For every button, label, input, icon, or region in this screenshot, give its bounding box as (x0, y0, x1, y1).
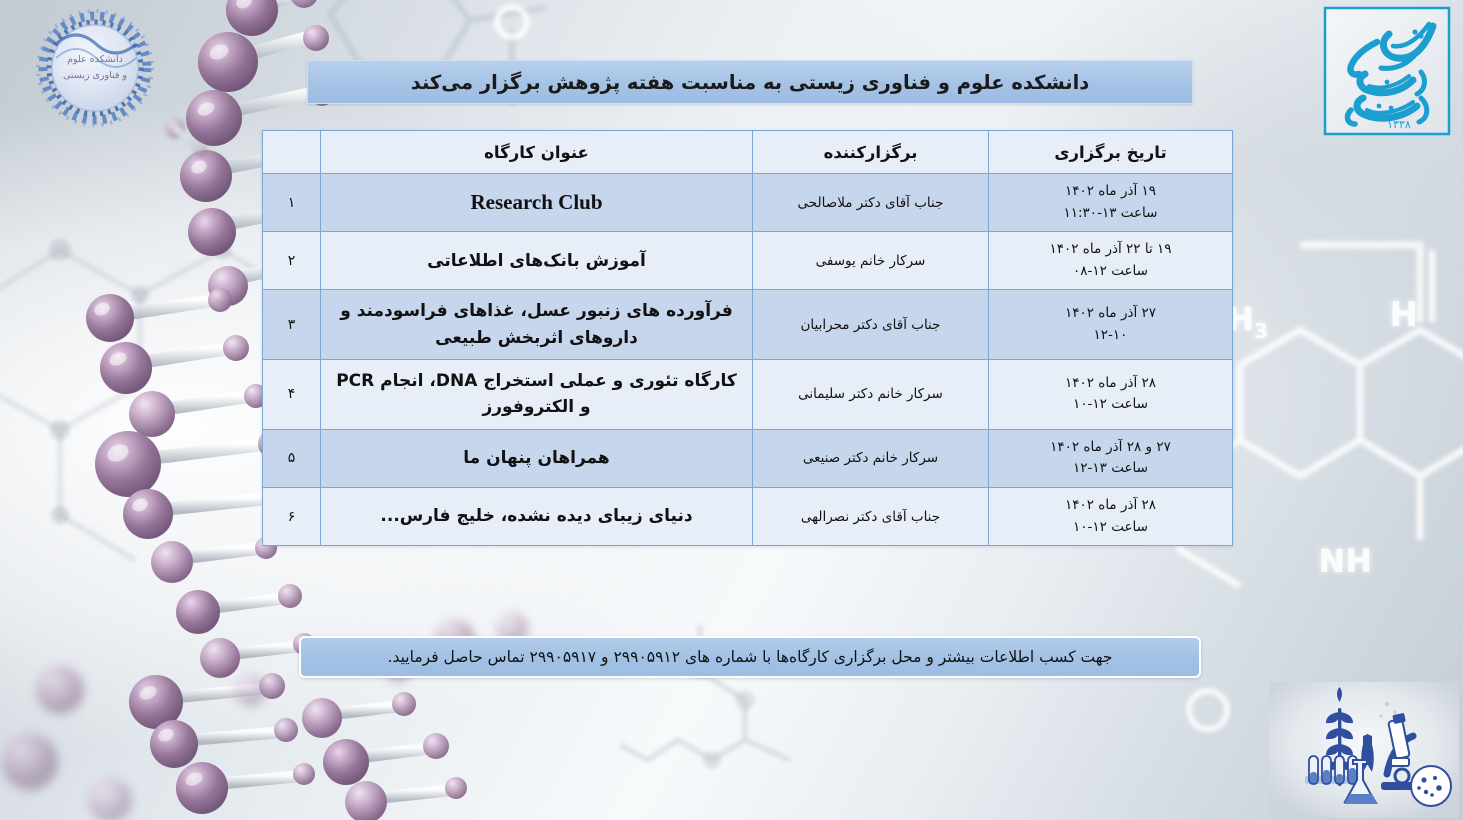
faculty-seal-line2: و فناوری زیستی (14, 68, 176, 84)
cell-date: ۱۹ تا ۲۲ آذر ماه ۱۴۰۲ساعت ۱۲-۰۸ (989, 232, 1233, 290)
cell-date-line1: ۲۷ و ۲۸ آذر ماه ۱۴۰۲ (995, 437, 1226, 459)
cell-host: سرکار خانم دکتر صنیعی (753, 429, 989, 487)
cell-row-number: ۳ (263, 290, 321, 360)
cell-date-line1: ۱۹ آذر ماه ۱۴۰۲ (995, 181, 1226, 203)
poster-slide: CH3 H NH (0, 0, 1463, 820)
workshop-schedule-table: تاریخ برگزاری برگزارکننده عنوان کارگاه ۱… (262, 130, 1233, 546)
table-header-row: تاریخ برگزاری برگزارکننده عنوان کارگاه (263, 131, 1233, 174)
faculty-seal-line1: دانشکده علوم (14, 52, 176, 68)
cell-date-line2: ساعت ۱۳-۱۲ (995, 458, 1226, 480)
cell-workshop-title: فرآورده های زنبور عسل، غذاهای فراسودمند … (321, 290, 753, 360)
contact-info-text: جهت کسب اطلاعات بیشتر و محل برگزاری کارگ… (388, 648, 1113, 666)
cell-workshop-title: همراهان پنهان ما (321, 429, 753, 487)
cell-host: جناب آقای دکتر محرابیان (753, 290, 989, 360)
column-header-index (263, 131, 321, 174)
cell-workshop-title: دنیای زیبای دیده نشده، خلیج فارس... (321, 487, 753, 545)
cell-row-number: ۵ (263, 429, 321, 487)
cell-date-line2: ساعت ۱۲-۱۰ (995, 394, 1226, 416)
cell-workshop-title: کارگاه تئوری و عملی استخراج DNA، انجام P… (321, 360, 753, 430)
shahid-beheshti-university-logo: ۱۳۳۸ (1317, 2, 1457, 144)
table-row: ۲۷ و ۲۸ آذر ماه ۱۴۰۲ساعت ۱۳-۱۲سرکار خانم… (263, 429, 1233, 487)
cell-host: سرکار خانم یوسفی (753, 232, 989, 290)
cell-date-line2: ساعت ۱۳-۱۱:۳۰ (995, 203, 1226, 225)
title-banner: دانشکده علوم و فناوری زیستی به مناسبت هف… (307, 60, 1193, 104)
cell-date-line2: ساعت ۱۲-۱۰ (995, 517, 1226, 539)
cell-date: ۲۷ و ۲۸ آذر ماه ۱۴۰۲ساعت ۱۳-۱۲ (989, 429, 1233, 487)
column-header-date: تاریخ برگزاری (989, 131, 1233, 174)
cell-row-number: ۱ (263, 174, 321, 232)
cell-workshop-title: آموزش بانک‌های اطلاعاتی (321, 232, 753, 290)
table-body: ۱۹ آذر ماه ۱۴۰۲ساعت ۱۳-۱۱:۳۰جناب آقای دک… (263, 174, 1233, 546)
biotech-emblem-logo (1269, 682, 1459, 818)
cell-date-line2: ۱۲-۱۰ (995, 325, 1226, 347)
cell-host: سرکار خانم دکتر سلیمانی (753, 360, 989, 430)
cell-date-line1: ۲۸ آذر ماه ۱۴۰۲ (995, 373, 1226, 395)
cell-row-number: ۲ (263, 232, 321, 290)
cell-row-number: ۴ (263, 360, 321, 430)
cell-date: ۲۸ آذر ماه ۱۴۰۲ساعت ۱۲-۱۰ (989, 360, 1233, 430)
cell-date-line2: ساعت ۱۲-۰۸ (995, 261, 1226, 283)
faculty-seal-logo: دانشکده علوم و فناوری زیستی (14, 8, 176, 132)
table-row: ۲۸ آذر ماه ۱۴۰۲ساعت ۱۲-۱۰سرکار خانم دکتر… (263, 360, 1233, 430)
cell-date-line1: ۲۸ آذر ماه ۱۴۰۲ (995, 495, 1226, 517)
table-row: ۲۸ آذر ماه ۱۴۰۲ساعت ۱۲-۱۰جناب آقای دکتر … (263, 487, 1233, 545)
table-row: ۱۹ آذر ماه ۱۴۰۲ساعت ۱۳-۱۱:۳۰جناب آقای دک… (263, 174, 1233, 232)
faculty-seal-text: دانشکده علوم و فناوری زیستی (14, 52, 176, 83)
table-row: ۲۷ آذر ماه ۱۴۰۲۱۲-۱۰جناب آقای دکتر محراب… (263, 290, 1233, 360)
university-logo-year: ۱۳۳۸ (1387, 118, 1411, 131)
cell-date: ۲۷ آذر ماه ۱۴۰۲۱۲-۱۰ (989, 290, 1233, 360)
cell-date-line1: ۱۹ تا ۲۲ آذر ماه ۱۴۰۲ (995, 239, 1226, 261)
column-header-host: برگزارکننده (753, 131, 989, 174)
cell-row-number: ۶ (263, 487, 321, 545)
cell-date: ۲۸ آذر ماه ۱۴۰۲ساعت ۱۲-۱۰ (989, 487, 1233, 545)
banner-title-text: دانشکده علوم و فناوری زیستی به مناسبت هف… (411, 71, 1090, 94)
cell-date: ۱۹ آذر ماه ۱۴۰۲ساعت ۱۳-۱۱:۳۰ (989, 174, 1233, 232)
cell-workshop-title: Research Club (321, 174, 753, 232)
cell-date-line1: ۲۷ آذر ماه ۱۴۰۲ (995, 303, 1226, 325)
table-row: ۱۹ تا ۲۲ آذر ماه ۱۴۰۲ساعت ۱۲-۰۸سرکار خان… (263, 232, 1233, 290)
contact-info-bar: جهت کسب اطلاعات بیشتر و محل برگزاری کارگ… (299, 636, 1201, 678)
petri-dish-icon (1411, 766, 1451, 806)
column-header-title: عنوان کارگاه (321, 131, 753, 174)
cell-host: جناب آقای دکتر نصرالهی (753, 487, 989, 545)
chem-label-nh: NH (1318, 542, 1372, 580)
cell-host: جناب آقای دکتر ملاصالحی (753, 174, 989, 232)
chem-label-h: H (1390, 295, 1418, 335)
